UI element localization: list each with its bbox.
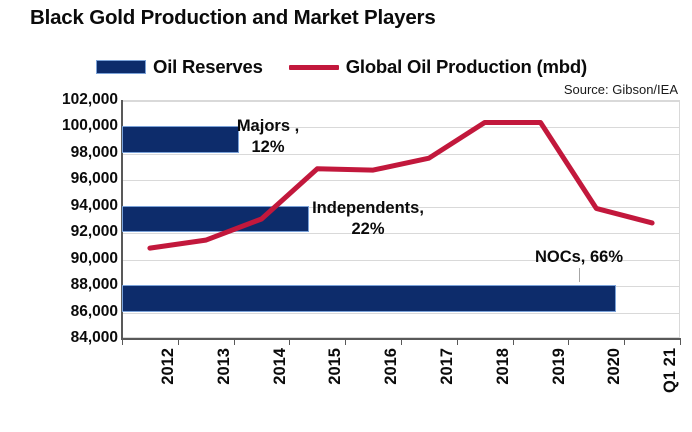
x-axis-tick-mark <box>345 338 346 345</box>
annotation-nocs: NOCs, 66% <box>514 247 644 268</box>
y-axis-tick-labels: 84,00086,00088,00090,00092,00094,00096,0… <box>10 0 118 432</box>
x-axis-tick-mark <box>513 338 514 345</box>
x-axis-tick-label: 2016 <box>382 348 401 385</box>
x-axis-tick-label: Q1 21 <box>661 348 680 393</box>
x-axis-tick-label: 2013 <box>215 348 234 385</box>
x-axis-tick-mark <box>624 338 625 345</box>
y-axis-tick-label: 84,000 <box>18 329 118 347</box>
x-axis-tick-mark <box>289 338 290 345</box>
x-axis-tick-mark <box>401 338 402 345</box>
y-axis-tick-label: 100,000 <box>18 117 118 135</box>
legend-item-global-oil-production[interactable]: Global Oil Production (mbd) <box>289 56 587 78</box>
legend-item-oil-reserves[interactable]: Oil Reserves <box>96 56 263 78</box>
x-axis-tick-label: 2014 <box>271 348 290 385</box>
legend-label-oil-reserves: Oil Reserves <box>153 56 263 78</box>
x-axis-tick-mark <box>568 338 569 345</box>
chart-container: Black Gold Production and Market Players… <box>0 0 692 432</box>
annotation-independents: Independents, 22% <box>283 198 453 241</box>
x-axis-tick-label: 2012 <box>159 348 178 385</box>
chart-legend: Oil Reserves Global Oil Production (mbd) <box>96 54 587 80</box>
y-axis-tick-label: 96,000 <box>18 170 118 188</box>
y-axis-tick-label: 92,000 <box>18 223 118 241</box>
y-axis-tick-label: 86,000 <box>18 303 118 321</box>
x-axis-tick-label: 2020 <box>605 348 624 385</box>
y-axis-tick-label: 88,000 <box>18 276 118 294</box>
y-axis-tick-label: 102,000 <box>18 91 118 109</box>
x-axis-tick-mark <box>234 338 235 345</box>
x-axis-tick-mark <box>457 338 458 345</box>
legend-label-global-oil-production: Global Oil Production (mbd) <box>346 56 587 78</box>
y-axis-tick-label: 98,000 <box>18 144 118 162</box>
x-axis-tick-label: 2018 <box>494 348 513 385</box>
x-axis-tick-label: 2019 <box>550 348 569 385</box>
x-axis-tick-mark <box>178 338 179 345</box>
legend-line-swatch-icon <box>289 65 339 70</box>
annotation-majors: Majors , 12% <box>213 116 323 159</box>
x-axis-tick-label: 2015 <box>326 348 345 385</box>
annotation-leader-line-nocs <box>579 268 580 282</box>
x-axis-tick-mark <box>680 338 681 345</box>
y-axis-tick-label: 90,000 <box>18 250 118 268</box>
source-note: Source: Gibson/IEA <box>564 82 678 97</box>
y-axis-tick-label: 94,000 <box>18 197 118 215</box>
x-axis-tick-label: 2017 <box>438 348 457 385</box>
x-axis-tick-mark <box>122 338 123 345</box>
